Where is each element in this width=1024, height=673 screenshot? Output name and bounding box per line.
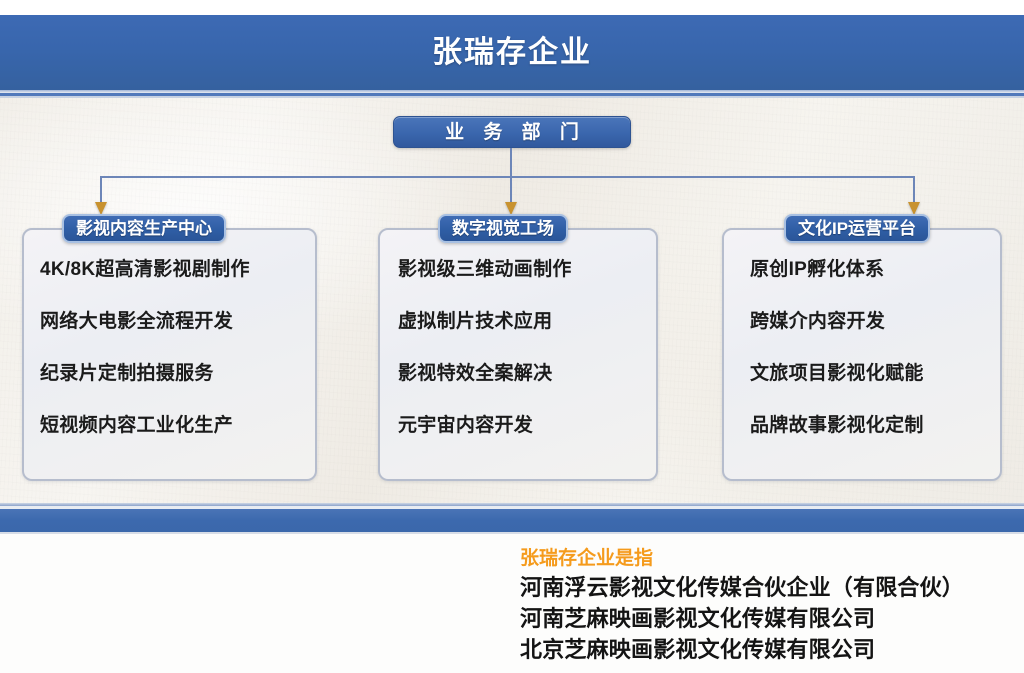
department-card-3[interactable]: 文化IP运营平台 原创IP孵化体系 跨媒介内容开发 文旅项目影视化赋能 品牌故事… bbox=[722, 228, 1002, 481]
connector-drop-1 bbox=[100, 178, 102, 204]
list-item: 影视特效全案解决 bbox=[398, 364, 656, 383]
list-item: 原创IP孵化体系 bbox=[750, 260, 1000, 279]
connector-horizontal-rail bbox=[100, 176, 915, 178]
header-banner: 张瑞存企业 bbox=[0, 15, 1024, 90]
list-item: 虚拟制片技术应用 bbox=[398, 312, 656, 331]
org-chart-poster: 张瑞存企业 业 务 部 门 影视内容生产中心 4K/8K超高清影视剧制作 网络大… bbox=[0, 0, 1024, 673]
footer-bar-edge bbox=[0, 532, 1024, 534]
department-badge-label-3: 文化IP运营平台 bbox=[798, 220, 916, 237]
department-badge-1[interactable]: 影视内容生产中心 bbox=[62, 214, 226, 243]
root-node-business-departments[interactable]: 业 务 部 门 bbox=[393, 116, 631, 148]
page-title: 张瑞存企业 bbox=[432, 38, 592, 68]
list-item: 影视级三维动画制作 bbox=[398, 260, 656, 279]
department-card-1[interactable]: 影视内容生产中心 4K/8K超高清影视剧制作 网络大电影全流程开发 纪录片定制拍… bbox=[22, 228, 317, 481]
footer-note: 张瑞存企业是指 河南浮云影视文化传媒合伙企业（有限合伙） 河南芝麻映画影视文化传… bbox=[512, 546, 1024, 665]
department-badge-label-1: 影视内容生产中心 bbox=[76, 220, 212, 237]
connector-drop-2 bbox=[510, 178, 512, 204]
list-item: 跨媒介内容开发 bbox=[750, 312, 1000, 331]
department-badge-3[interactable]: 文化IP运营平台 bbox=[784, 214, 930, 243]
connector-stem-main bbox=[510, 148, 512, 177]
list-item: 元宇宙内容开发 bbox=[398, 416, 656, 435]
footer-company-line: 河南浮云影视文化传媒合伙企业（有限合伙） bbox=[520, 572, 1024, 603]
list-item: 短视频内容工业化生产 bbox=[40, 416, 315, 435]
connector-drop-3 bbox=[913, 178, 915, 204]
top-white-strip bbox=[0, 0, 1024, 15]
list-item: 纪录片定制拍摄服务 bbox=[40, 364, 315, 383]
root-node-label: 业 务 部 门 bbox=[438, 123, 586, 142]
footer-company-line: 北京芝麻映画影视文化传媒有限公司 bbox=[520, 634, 1024, 665]
department-item-list-1: 4K/8K超高清影视剧制作 网络大电影全流程开发 纪录片定制拍摄服务 短视频内容… bbox=[24, 260, 315, 468]
footer-blue-bar bbox=[0, 509, 1024, 532]
department-card-2[interactable]: 数字视觉工场 影视级三维动画制作 虚拟制片技术应用 影视特效全案解决 元宇宙内容… bbox=[378, 228, 658, 481]
department-badge-2[interactable]: 数字视觉工场 bbox=[438, 214, 568, 243]
footer-company-line: 河南芝麻映画影视文化传媒有限公司 bbox=[520, 603, 1024, 634]
department-item-list-2: 影视级三维动画制作 虚拟制片技术应用 影视特效全案解决 元宇宙内容开发 bbox=[380, 260, 656, 468]
list-item: 品牌故事影视化定制 bbox=[750, 416, 1000, 435]
list-item: 4K/8K超高清影视剧制作 bbox=[40, 260, 315, 279]
list-item: 文旅项目影视化赋能 bbox=[750, 364, 1000, 383]
department-badge-label-2: 数字视觉工场 bbox=[452, 220, 554, 237]
footer-lead-text: 张瑞存企业是指 bbox=[520, 546, 1024, 572]
list-item: 网络大电影全流程开发 bbox=[40, 312, 315, 331]
department-item-list-3: 原创IP孵化体系 跨媒介内容开发 文旅项目影视化赋能 品牌故事影视化定制 bbox=[724, 260, 1000, 468]
